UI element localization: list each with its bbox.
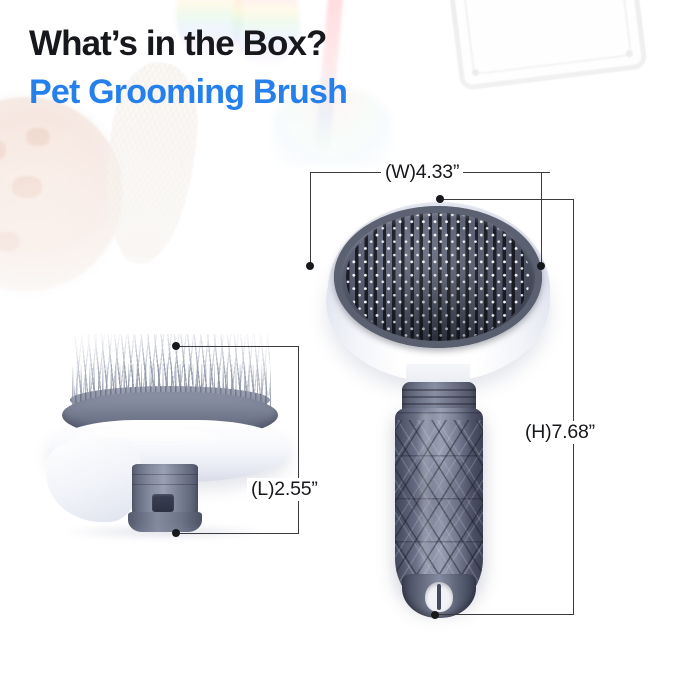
width-witness-line-left — [310, 172, 311, 266]
handle-gloss-highlight — [418, 412, 432, 600]
length-dimension-line — [298, 346, 299, 534]
width-dimension-label: (W)4.33” — [381, 161, 463, 184]
white-tray-inner-edge — [460, 0, 632, 75]
width-endpoint-dot-left — [306, 262, 314, 270]
side-brush-shadow — [62, 524, 268, 540]
height-endpoint-dot-bottom — [431, 611, 439, 619]
collar-ring — [402, 389, 476, 391]
collar-ring — [402, 396, 476, 398]
product-brush-side-view — [48, 334, 298, 546]
page-subtitle: Pet Grooming Brush — [29, 73, 347, 111]
knitted-mouse-toy-nose — [117, 219, 164, 267]
kibble-piece — [26, 128, 50, 146]
knob-rib — [132, 474, 198, 475]
width-witness-line-right — [541, 172, 542, 266]
brush-head-rim — [334, 206, 542, 348]
handle-hanging-hole-divider — [437, 584, 441, 610]
product-infographic: What’s in the Box? Pet Grooming Brush — [0, 0, 679, 679]
length-dimension-label: (L)2.55” — [247, 478, 322, 501]
collar-ring — [402, 403, 476, 405]
height-endpoint-dot-top — [436, 195, 444, 203]
height-witness-line-bottom — [439, 614, 574, 615]
product-brush-front-view — [318, 196, 558, 616]
height-witness-line-top — [441, 199, 574, 200]
height-dimension-label: (H)7.68” — [521, 421, 599, 444]
side-brush-tail — [46, 438, 142, 522]
heading-block: What’s in the Box? Pet Grooming Brush — [29, 24, 347, 111]
height-dimension-line — [573, 199, 574, 615]
tray-screw — [625, 50, 633, 58]
white-tray — [444, 0, 647, 91]
length-endpoint-dot-top — [172, 342, 180, 350]
kibble-piece — [0, 232, 20, 251]
pet-food-bowl — [0, 96, 124, 292]
kibble-piece — [0, 140, 6, 160]
length-witness-line-top — [179, 346, 299, 347]
pet-food-bowl-rim — [0, 90, 130, 298]
length-witness-line-bottom — [179, 533, 299, 534]
tray-screw — [472, 69, 480, 77]
page-title: What’s in the Box? — [29, 24, 347, 64]
length-endpoint-dot-bottom — [172, 529, 180, 537]
width-endpoint-dot-right — [537, 262, 545, 270]
kibble-piece — [12, 176, 42, 198]
side-brush-release-button — [152, 494, 174, 512]
knob-rib — [132, 484, 198, 485]
